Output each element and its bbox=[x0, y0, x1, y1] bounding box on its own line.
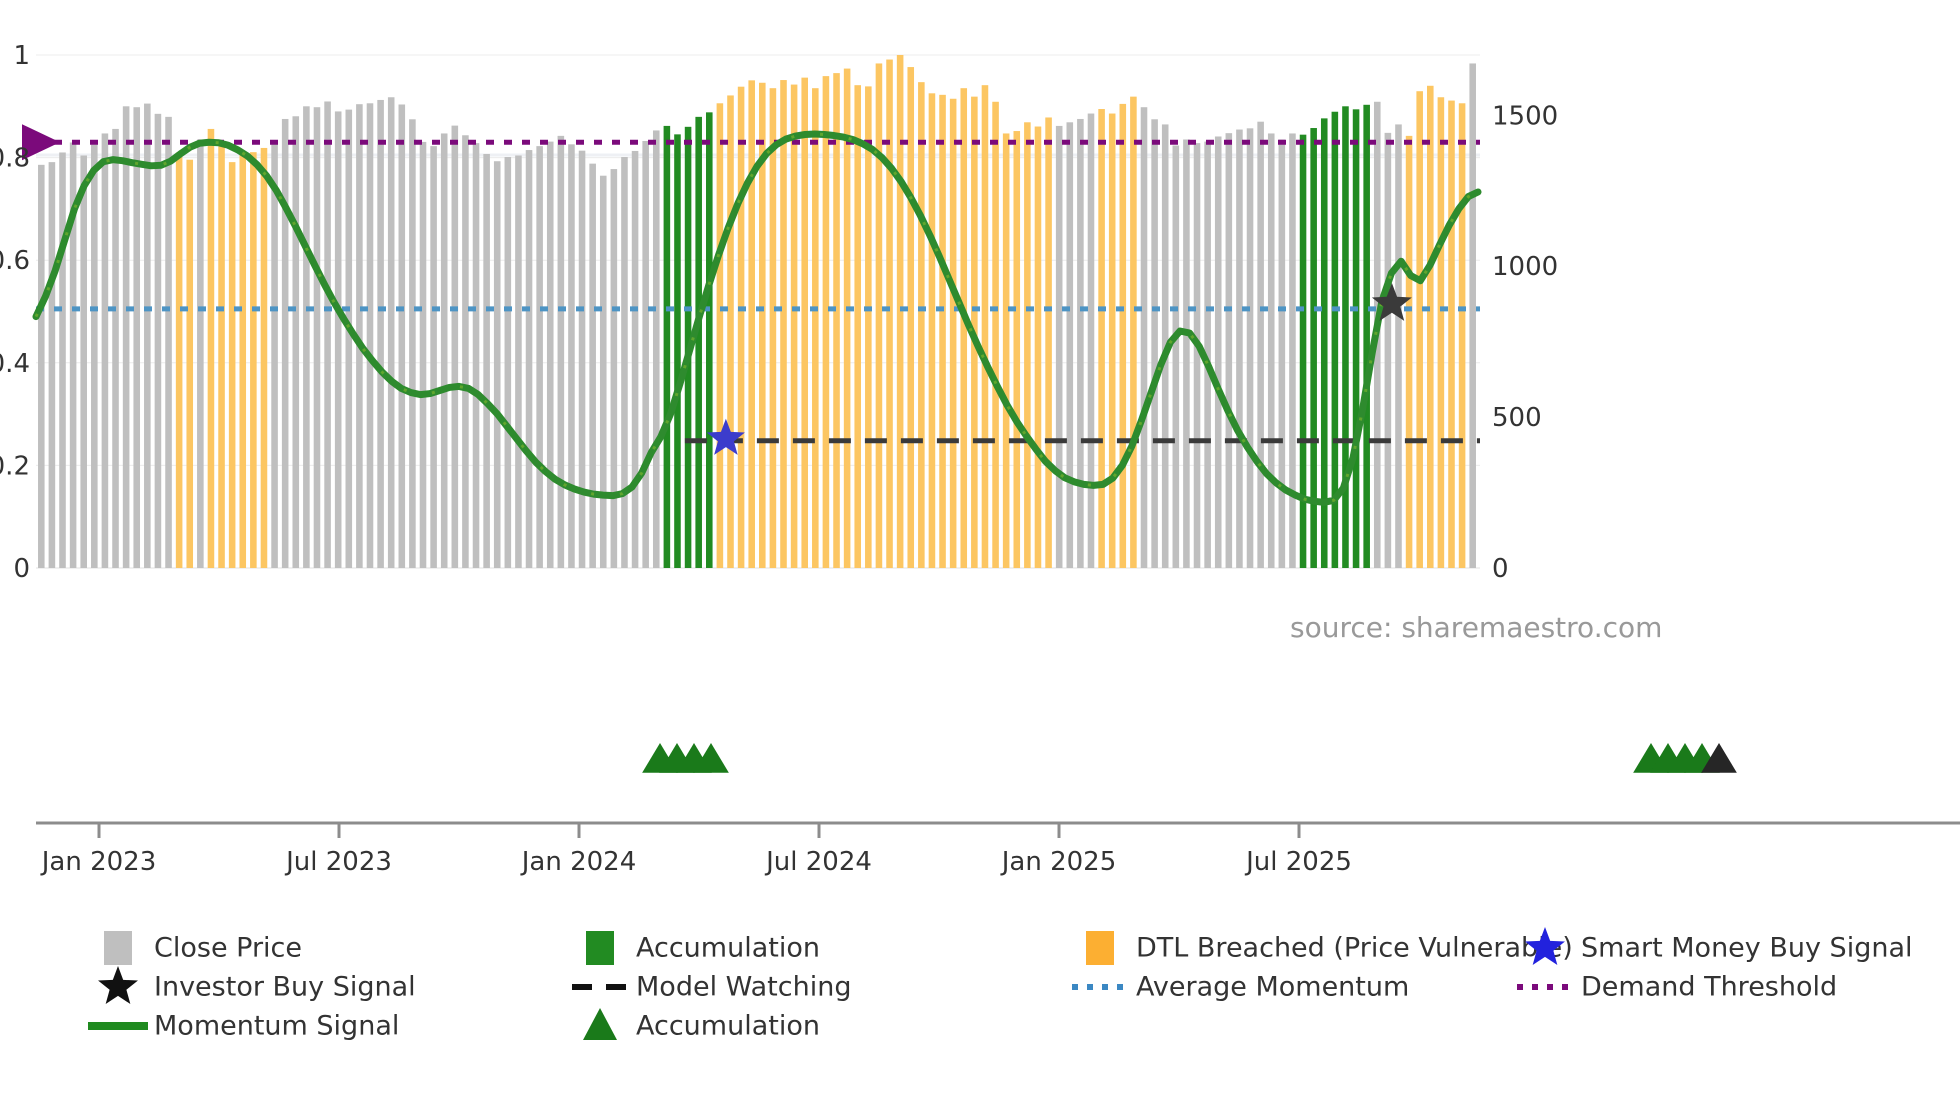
price-bar bbox=[1194, 143, 1201, 568]
price-bar bbox=[642, 141, 649, 568]
price-bar bbox=[218, 146, 225, 568]
price-bar bbox=[1459, 103, 1466, 568]
price-bar bbox=[388, 97, 395, 568]
price-bar bbox=[515, 155, 522, 568]
left-axis-ticks: 00.20.40.60.81 bbox=[0, 41, 30, 584]
right-axis-tick-label: 1000 bbox=[1492, 252, 1558, 282]
price-bar bbox=[1173, 146, 1180, 568]
price-bar bbox=[1300, 135, 1307, 568]
legend-item[interactable]: Accumulation bbox=[586, 931, 820, 965]
price-bar bbox=[1003, 133, 1010, 568]
price-bar bbox=[568, 144, 575, 568]
price-bar bbox=[377, 100, 384, 568]
price-bar bbox=[1088, 114, 1095, 568]
price-bar bbox=[282, 119, 289, 568]
legend-item[interactable]: Average Momentum bbox=[1072, 972, 1409, 1003]
legend-triangle-icon bbox=[583, 1008, 617, 1040]
price-bar bbox=[1045, 117, 1052, 568]
price-bar bbox=[1067, 122, 1074, 568]
legend-item[interactable]: Close Price bbox=[104, 931, 302, 965]
x-axis-tick-label: Jul 2025 bbox=[1244, 847, 1352, 877]
price-bar bbox=[1120, 104, 1127, 568]
price-bar bbox=[1141, 107, 1148, 568]
price-bar bbox=[80, 155, 87, 568]
price-bar bbox=[1353, 109, 1360, 568]
price-bar bbox=[823, 76, 830, 568]
price-bar bbox=[165, 117, 172, 568]
price-bar bbox=[579, 151, 586, 568]
price-bar bbox=[1385, 133, 1392, 568]
price-bar bbox=[1395, 124, 1402, 568]
price-bar bbox=[1109, 114, 1116, 568]
left-axis-tick-label: 0.4 bbox=[0, 349, 30, 379]
price-bar bbox=[261, 148, 268, 568]
price-bar bbox=[791, 85, 798, 568]
price-bar bbox=[536, 146, 543, 568]
price-bar bbox=[918, 82, 925, 568]
price-bar bbox=[907, 67, 914, 568]
price-bar bbox=[664, 126, 671, 568]
price-bar bbox=[335, 111, 342, 568]
price-bar bbox=[91, 145, 98, 568]
price-bar bbox=[123, 106, 130, 568]
price-bar bbox=[462, 135, 469, 568]
price-bar bbox=[738, 87, 745, 568]
price-bar bbox=[611, 169, 618, 568]
legend-item[interactable]: Demand Threshold bbox=[1517, 972, 1837, 1003]
price-bar bbox=[1035, 127, 1042, 568]
legend-item-label: Close Price bbox=[154, 933, 302, 964]
price-bar bbox=[324, 101, 331, 568]
source-annotation: source: sharemaestro.com bbox=[1290, 611, 1662, 644]
price-bar bbox=[1279, 139, 1286, 568]
price-bar bbox=[1438, 97, 1445, 568]
legend-item-label: Accumulation bbox=[636, 1011, 820, 1042]
price-bar bbox=[1056, 126, 1063, 568]
price-bar bbox=[1363, 105, 1370, 568]
price-bar bbox=[547, 142, 554, 568]
chart-legend: Close PriceAccumulationDTL Breached (Pri… bbox=[88, 927, 1913, 1042]
legend-item[interactable]: DTL Breached (Price Vulnerable) bbox=[1086, 931, 1573, 965]
right-axis-tick-label: 500 bbox=[1492, 403, 1542, 433]
price-bar bbox=[982, 85, 989, 568]
price-bar bbox=[558, 136, 565, 568]
price-bar bbox=[112, 129, 119, 568]
price-bar bbox=[1130, 97, 1137, 568]
price-bar bbox=[1469, 63, 1476, 568]
price-bar bbox=[717, 103, 724, 568]
price-bar bbox=[1448, 101, 1455, 568]
price-bar bbox=[876, 63, 883, 568]
price-bar bbox=[292, 116, 299, 568]
price-bar bbox=[303, 106, 310, 568]
price-bar bbox=[1342, 106, 1349, 568]
price-bar bbox=[1247, 128, 1254, 568]
close-price-bars bbox=[38, 55, 1476, 568]
price-bar bbox=[632, 151, 639, 568]
legend-item-label: Accumulation bbox=[636, 933, 820, 964]
price-bar bbox=[473, 143, 480, 568]
price-bar bbox=[600, 176, 607, 568]
price-bar bbox=[367, 103, 374, 568]
price-bar bbox=[706, 112, 713, 568]
x-axis-tick-label: Jan 2025 bbox=[1000, 847, 1117, 877]
price-bar bbox=[960, 88, 967, 568]
price-bar bbox=[854, 85, 861, 568]
price-bar bbox=[1013, 131, 1020, 568]
left-axis-tick-label: 1 bbox=[13, 41, 30, 71]
price-bar bbox=[770, 88, 777, 568]
price-bar bbox=[1183, 139, 1190, 568]
legend-item-label: DTL Breached (Price Vulnerable) bbox=[1136, 933, 1573, 964]
price-bar bbox=[674, 134, 681, 568]
right-axis-ticks: 050010001500 bbox=[1492, 101, 1558, 584]
price-bar bbox=[1406, 136, 1413, 568]
legend-square-swatch-icon bbox=[586, 931, 614, 965]
x-axis-tick-label: Jan 2023 bbox=[40, 847, 157, 877]
price-bar bbox=[801, 78, 808, 568]
price-bar bbox=[1236, 130, 1243, 568]
price-bar bbox=[430, 146, 437, 568]
price-bar bbox=[38, 165, 45, 568]
legend-square-swatch-icon bbox=[104, 931, 132, 965]
legend-item[interactable]: Momentum Signal bbox=[88, 1011, 399, 1042]
price-bar bbox=[780, 80, 787, 568]
price-bar bbox=[176, 152, 183, 568]
price-bar bbox=[695, 117, 702, 568]
price-bar bbox=[250, 152, 257, 568]
legend-item-label: Investor Buy Signal bbox=[154, 972, 416, 1003]
price-bar bbox=[992, 102, 999, 568]
price-bar bbox=[155, 114, 162, 568]
x-axis: Jan 2023Jul 2023Jan 2024Jul 2024Jan 2025… bbox=[36, 823, 1960, 877]
price-bar bbox=[229, 162, 236, 568]
price-bar bbox=[133, 107, 140, 568]
price-bar bbox=[621, 157, 628, 568]
legend-item-label: Smart Money Buy Signal bbox=[1581, 933, 1913, 964]
price-bar bbox=[950, 99, 957, 568]
price-bar bbox=[1098, 109, 1105, 568]
price-bar bbox=[239, 155, 246, 568]
price-bar bbox=[494, 161, 501, 568]
price-bar bbox=[59, 152, 66, 568]
legend-item[interactable]: Model Watching bbox=[572, 972, 851, 1003]
chart-canvas: Jan 2023Jul 2023Jan 2024Jul 2024Jan 2025… bbox=[0, 0, 1960, 1102]
price-bar bbox=[812, 88, 819, 568]
price-bar bbox=[346, 110, 353, 568]
price-bar bbox=[1215, 136, 1222, 568]
price-bar bbox=[1268, 133, 1275, 568]
left-axis-tick-label: 0.2 bbox=[0, 451, 30, 481]
price-bar bbox=[865, 86, 872, 568]
legend-item-label: Demand Threshold bbox=[1581, 972, 1837, 1003]
price-bar bbox=[452, 126, 459, 568]
price-bar bbox=[483, 154, 490, 568]
stock-momentum-chart: Jan 2023Jul 2023Jan 2024Jul 2024Jan 2025… bbox=[0, 0, 1960, 1102]
price-bar bbox=[441, 133, 448, 568]
legend-item-label: Momentum Signal bbox=[154, 1011, 399, 1042]
price-bar bbox=[897, 55, 904, 568]
price-bar bbox=[929, 93, 936, 568]
legend-item[interactable]: Smart Money Buy Signal bbox=[1525, 927, 1912, 965]
left-axis-tick-label: 0.8 bbox=[0, 144, 30, 174]
price-bar bbox=[1427, 86, 1434, 568]
price-bar bbox=[653, 130, 660, 568]
legend-item-label: Average Momentum bbox=[1136, 972, 1409, 1003]
price-bar bbox=[1289, 133, 1296, 568]
price-bar bbox=[102, 133, 109, 568]
x-axis-tick-label: Jul 2024 bbox=[764, 847, 872, 877]
price-bar bbox=[144, 104, 151, 568]
accumulation-triangle-markers bbox=[642, 743, 1737, 773]
price-bar bbox=[271, 141, 278, 568]
x-axis-tick-label: Jul 2023 bbox=[284, 847, 392, 877]
price-bar bbox=[1151, 119, 1158, 568]
legend-item[interactable]: Accumulation bbox=[583, 1008, 820, 1042]
price-bar bbox=[1226, 133, 1233, 568]
price-bar bbox=[748, 80, 755, 568]
right-axis-tick-label: 1500 bbox=[1492, 101, 1558, 131]
price-bar bbox=[1416, 91, 1423, 568]
legend-item[interactable]: Investor Buy Signal bbox=[98, 966, 416, 1004]
price-bar bbox=[1077, 119, 1084, 568]
price-bar bbox=[886, 60, 893, 568]
price-bar bbox=[833, 73, 840, 568]
price-bar bbox=[1257, 122, 1264, 568]
x-axis-tick-label: Jan 2024 bbox=[520, 847, 637, 877]
price-bar bbox=[399, 104, 406, 568]
price-bar bbox=[409, 119, 416, 568]
right-axis-tick-label: 0 bbox=[1492, 554, 1509, 584]
price-bar bbox=[314, 107, 321, 568]
price-bar bbox=[505, 157, 512, 568]
legend-square-swatch-icon bbox=[1086, 931, 1114, 965]
left-axis-tick-label: 0.6 bbox=[0, 246, 30, 276]
price-bar bbox=[1024, 122, 1031, 568]
price-bar bbox=[939, 95, 946, 568]
price-bar bbox=[186, 160, 193, 568]
legend-item-label: Model Watching bbox=[636, 972, 851, 1003]
price-bar bbox=[589, 164, 596, 568]
price-bar bbox=[526, 150, 533, 568]
price-bar bbox=[208, 129, 215, 568]
left-axis-tick-label: 0 bbox=[13, 554, 30, 584]
price-bar bbox=[197, 139, 204, 568]
price-bar bbox=[420, 142, 427, 568]
price-bar bbox=[727, 95, 734, 568]
price-bar bbox=[49, 162, 56, 568]
legend-star-icon bbox=[98, 966, 138, 1004]
